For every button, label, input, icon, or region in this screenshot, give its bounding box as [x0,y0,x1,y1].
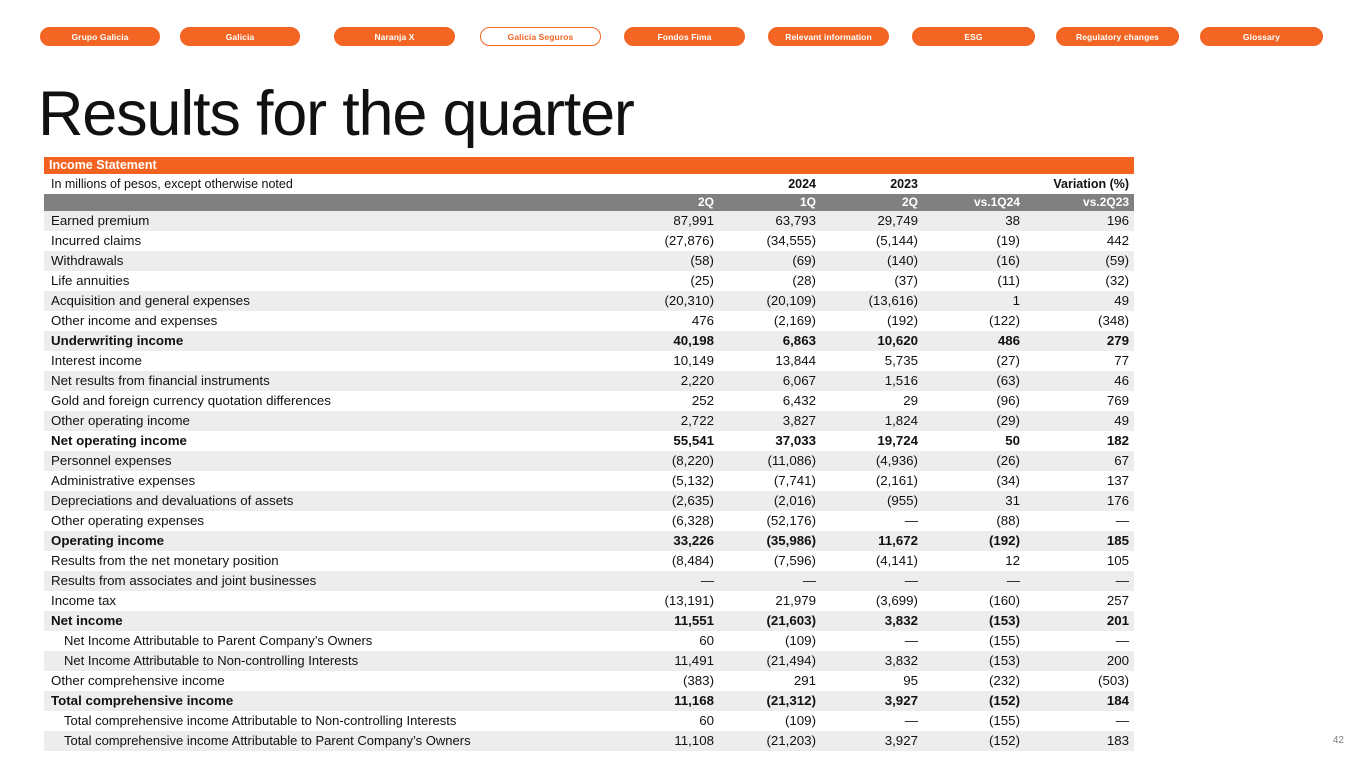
row-value: 40,198 [620,331,722,351]
row-value: 63,793 [722,211,824,231]
income-statement-table: Income Statement In millions of pesos, e… [44,157,1134,751]
table-row: Other operating expenses(6,328)(52,176)—… [44,511,1134,531]
row-label: Net results from financial instruments [44,371,620,391]
row-value: — [1028,571,1134,591]
col-header-1q24: 1Q [722,194,824,211]
row-value: (21,312) [722,691,824,711]
row-value: (26) [926,451,1028,471]
row-value: (35,986) [722,531,824,551]
table-band-title-row: Income Statement [44,157,1134,174]
table-row: Life annuities(25)(28)(37)(11)(32) [44,271,1134,291]
row-label: Net Income Attributable to Parent Compan… [44,631,620,651]
table-row: Depreciations and devaluations of assets… [44,491,1134,511]
row-value: (5,132) [620,471,722,491]
nav-pill-glossary[interactable]: Glossary [1200,27,1323,46]
table-quarters-row: 2Q 1Q 2Q vs.1Q24 vs.2Q23 [44,194,1134,211]
row-label: Net operating income [44,431,620,451]
row-value: (34) [926,471,1028,491]
table-body: Earned premium87,99163,79329,74938196Inc… [44,211,1134,751]
row-value: 1,824 [824,411,926,431]
row-label: Other income and expenses [44,311,620,331]
table-header: Income Statement In millions of pesos, e… [44,157,1134,211]
row-value: (13,616) [824,291,926,311]
row-value: (37) [824,271,926,291]
row-label: Depreciations and devaluations of assets [44,491,620,511]
row-value: — [1028,511,1134,531]
row-value: 3,832 [824,611,926,631]
row-value: (232) [926,671,1028,691]
row-value: 476 [620,311,722,331]
row-value: — [824,631,926,651]
row-value: (109) [722,711,824,731]
row-value: 176 [1028,491,1134,511]
col-header-vs-1q24: vs.1Q24 [926,194,1028,211]
income-statement-table-wrapper: Income Statement In millions of pesos, e… [44,157,1128,751]
row-value: (16) [926,251,1028,271]
table-row: Personnel expenses(8,220)(11,086)(4,936)… [44,451,1134,471]
row-value: (11) [926,271,1028,291]
row-value: — [824,571,926,591]
row-value: (21,494) [722,651,824,671]
table-row: Earned premium87,99163,79329,74938196 [44,211,1134,231]
row-value: (7,596) [722,551,824,571]
row-value: — [824,511,926,531]
row-value: (21,603) [722,611,824,631]
year-2023-header: 2023 [824,174,926,194]
row-label: Net income [44,611,620,631]
table-row: Underwriting income40,1986,86310,6204862… [44,331,1134,351]
row-value: 3,832 [824,651,926,671]
row-label: Results from associates and joint busine… [44,571,620,591]
row-value: (27,876) [620,231,722,251]
row-value: — [824,711,926,731]
row-value: 31 [926,491,1028,511]
table-row: Net results from financial instruments2,… [44,371,1134,391]
row-value: (32) [1028,271,1134,291]
nav-pill-grupo-galicia[interactable]: Grupo Galicia [40,27,160,46]
row-value: 486 [926,331,1028,351]
row-label: Total comprehensive income Attributable … [44,711,620,731]
row-value: 3,927 [824,731,926,751]
row-value: (155) [926,711,1028,731]
row-value: (192) [824,311,926,331]
table-years-row: In millions of pesos, except otherwise n… [44,174,1134,194]
row-value: 19,724 [824,431,926,451]
row-value: 5,735 [824,351,926,371]
table-row: Total comprehensive income11,168(21,312)… [44,691,1134,711]
table-row: Results from associates and joint busine… [44,571,1134,591]
row-value: 55,541 [620,431,722,451]
page-title: Results for the quarter [38,83,634,146]
row-label: Interest income [44,351,620,371]
row-value: 95 [824,671,926,691]
col-header-2q24: 2Q [620,194,722,211]
row-value: (63) [926,371,1028,391]
row-value: (2,016) [722,491,824,511]
row-value: 12 [926,551,1028,571]
row-value: 137 [1028,471,1134,491]
table-row: Net operating income55,54137,03319,72450… [44,431,1134,451]
row-value: (27) [926,351,1028,371]
row-label: Other comprehensive income [44,671,620,691]
table-row: Withdrawals(58)(69)(140)(16)(59) [44,251,1134,271]
row-value: 11,491 [620,651,722,671]
row-value: 442 [1028,231,1134,251]
row-value: — [620,571,722,591]
row-value: (25) [620,271,722,291]
row-value: (5,144) [824,231,926,251]
row-value: 6,067 [722,371,824,391]
row-value: 10,149 [620,351,722,371]
row-value: (28) [722,271,824,291]
row-value: — [1028,711,1134,731]
row-value: 37,033 [722,431,824,451]
row-value: 182 [1028,431,1134,451]
variation-spacer [926,174,1028,194]
spacer-cell [620,174,722,194]
row-value: 49 [1028,291,1134,311]
row-value: 201 [1028,611,1134,631]
row-value: 2,220 [620,371,722,391]
table-row: Results from the net monetary position(8… [44,551,1134,571]
table-band-title: Income Statement [44,157,1134,174]
row-value: (69) [722,251,824,271]
row-value: 77 [1028,351,1134,371]
table-row: Income tax(13,191)21,979(3,699)(160)257 [44,591,1134,611]
row-value: (58) [620,251,722,271]
row-value: 257 [1028,591,1134,611]
row-value: 60 [620,631,722,651]
row-value: (19) [926,231,1028,251]
row-value: (20,310) [620,291,722,311]
table-row: Operating income33,226(35,986)11,672(192… [44,531,1134,551]
row-value: 291 [722,671,824,691]
nav-pill-galicia[interactable]: Galicia [180,27,300,46]
row-label: Withdrawals [44,251,620,271]
row-label: Other operating income [44,411,620,431]
row-value: (29) [926,411,1028,431]
table-row: Net Income Attributable to Parent Compan… [44,631,1134,651]
row-label: Results from the net monetary position [44,551,620,571]
row-value: 3,827 [722,411,824,431]
row-label: Income tax [44,591,620,611]
row-value: 49 [1028,411,1134,431]
row-value: 11,168 [620,691,722,711]
row-value: (8,484) [620,551,722,571]
row-label: Total comprehensive income Attributable … [44,731,620,751]
table-row: Total comprehensive income Attributable … [44,711,1134,731]
row-value: (2,169) [722,311,824,331]
table-row: Acquisition and general expenses(20,310)… [44,291,1134,311]
row-value: (52,176) [722,511,824,531]
row-value: (109) [722,631,824,651]
row-value: (13,191) [620,591,722,611]
quarters-label-spacer [44,194,620,211]
row-value: 11,672 [824,531,926,551]
row-value: 184 [1028,691,1134,711]
row-value: (11,086) [722,451,824,471]
row-value: (4,936) [824,451,926,471]
row-value: (4,141) [824,551,926,571]
row-value: — [1028,631,1134,651]
nav-pill-galicia-seguros[interactable]: Galicia Seguros [480,27,601,46]
row-value: 29,749 [824,211,926,231]
row-value: (88) [926,511,1028,531]
row-value: (383) [620,671,722,691]
row-value: 11,108 [620,731,722,751]
row-value: (160) [926,591,1028,611]
row-value: 252 [620,391,722,411]
units-label: In millions of pesos, except otherwise n… [44,174,620,194]
row-value: 2,722 [620,411,722,431]
table-row: Other income and expenses476(2,169)(192)… [44,311,1134,331]
row-value: (6,328) [620,511,722,531]
row-value: 60 [620,711,722,731]
row-value: 67 [1028,451,1134,471]
row-value: 29 [824,391,926,411]
row-value: (2,161) [824,471,926,491]
row-value: (2,635) [620,491,722,511]
row-value: 46 [1028,371,1134,391]
row-value: (348) [1028,311,1134,331]
row-value: (152) [926,691,1028,711]
slide-canvas: Grupo GaliciaGaliciaNaranja XGalicia Seg… [0,0,1365,768]
row-value: (3,699) [824,591,926,611]
row-value: 196 [1028,211,1134,231]
row-value: 183 [1028,731,1134,751]
row-value: 769 [1028,391,1134,411]
row-value: — [926,571,1028,591]
table-row: Other comprehensive income(383)29195(232… [44,671,1134,691]
row-label: Earned premium [44,211,620,231]
col-header-2q23: 2Q [824,194,926,211]
row-value: (503) [1028,671,1134,691]
row-value: (122) [926,311,1028,331]
row-value: 6,432 [722,391,824,411]
row-value: (140) [824,251,926,271]
nav-pill-naranja-x[interactable]: Naranja X [334,27,455,46]
row-value: (152) [926,731,1028,751]
page-number: 42 [1333,735,1344,746]
row-value: 105 [1028,551,1134,571]
row-value: 1 [926,291,1028,311]
row-value: 33,226 [620,531,722,551]
row-label: Administrative expenses [44,471,620,491]
row-value: 6,863 [722,331,824,351]
row-label: Operating income [44,531,620,551]
variation-header: Variation (%) [1028,174,1134,194]
row-value: 50 [926,431,1028,451]
year-2024-header: 2024 [722,174,824,194]
row-value: 38 [926,211,1028,231]
row-value: 200 [1028,651,1134,671]
row-value: 10,620 [824,331,926,351]
row-value: (8,220) [620,451,722,471]
row-label: Incurred claims [44,231,620,251]
col-header-vs-2q23: vs.2Q23 [1028,194,1134,211]
row-label: Net Income Attributable to Non-controlli… [44,651,620,671]
row-value: (34,555) [722,231,824,251]
row-label: Gold and foreign currency quotation diff… [44,391,620,411]
nav-pill-fondos-fima[interactable]: Fondos Fima [624,27,745,46]
row-label: Personnel expenses [44,451,620,471]
row-label: Total comprehensive income [44,691,620,711]
table-row: Incurred claims(27,876)(34,555)(5,144)(1… [44,231,1134,251]
row-value: 279 [1028,331,1134,351]
table-row: Interest income10,14913,8445,735(27)77 [44,351,1134,371]
row-value: 87,991 [620,211,722,231]
row-label: Acquisition and general expenses [44,291,620,311]
row-value: 21,979 [722,591,824,611]
row-value: (20,109) [722,291,824,311]
row-value: (192) [926,531,1028,551]
row-value: (7,741) [722,471,824,491]
row-value: 13,844 [722,351,824,371]
row-value: 185 [1028,531,1134,551]
row-value: (155) [926,631,1028,651]
top-navigation: Grupo GaliciaGaliciaNaranja XGalicia Seg… [0,27,1365,47]
row-label: Life annuities [44,271,620,291]
row-value: 3,927 [824,691,926,711]
row-value: — [722,571,824,591]
row-label: Other operating expenses [44,511,620,531]
row-value: 1,516 [824,371,926,391]
table-row: Administrative expenses(5,132)(7,741)(2,… [44,471,1134,491]
table-row: Net Income Attributable to Non-controlli… [44,651,1134,671]
table-row: Total comprehensive income Attributable … [44,731,1134,751]
row-value: 11,551 [620,611,722,631]
row-label: Underwriting income [44,331,620,351]
row-value: (96) [926,391,1028,411]
row-value: (153) [926,611,1028,631]
row-value: (21,203) [722,731,824,751]
row-value: (153) [926,651,1028,671]
nav-pill-esg[interactable]: ESG [912,27,1035,46]
nav-pill-relevant-information[interactable]: Relevant information [768,27,889,46]
table-row: Net income11,551(21,603)3,832(153)201 [44,611,1134,631]
row-value: (955) [824,491,926,511]
table-row: Other operating income2,7223,8271,824(29… [44,411,1134,431]
row-value: (59) [1028,251,1134,271]
nav-pill-regulatory-changes[interactable]: Regulatory changes [1056,27,1179,46]
table-row: Gold and foreign currency quotation diff… [44,391,1134,411]
